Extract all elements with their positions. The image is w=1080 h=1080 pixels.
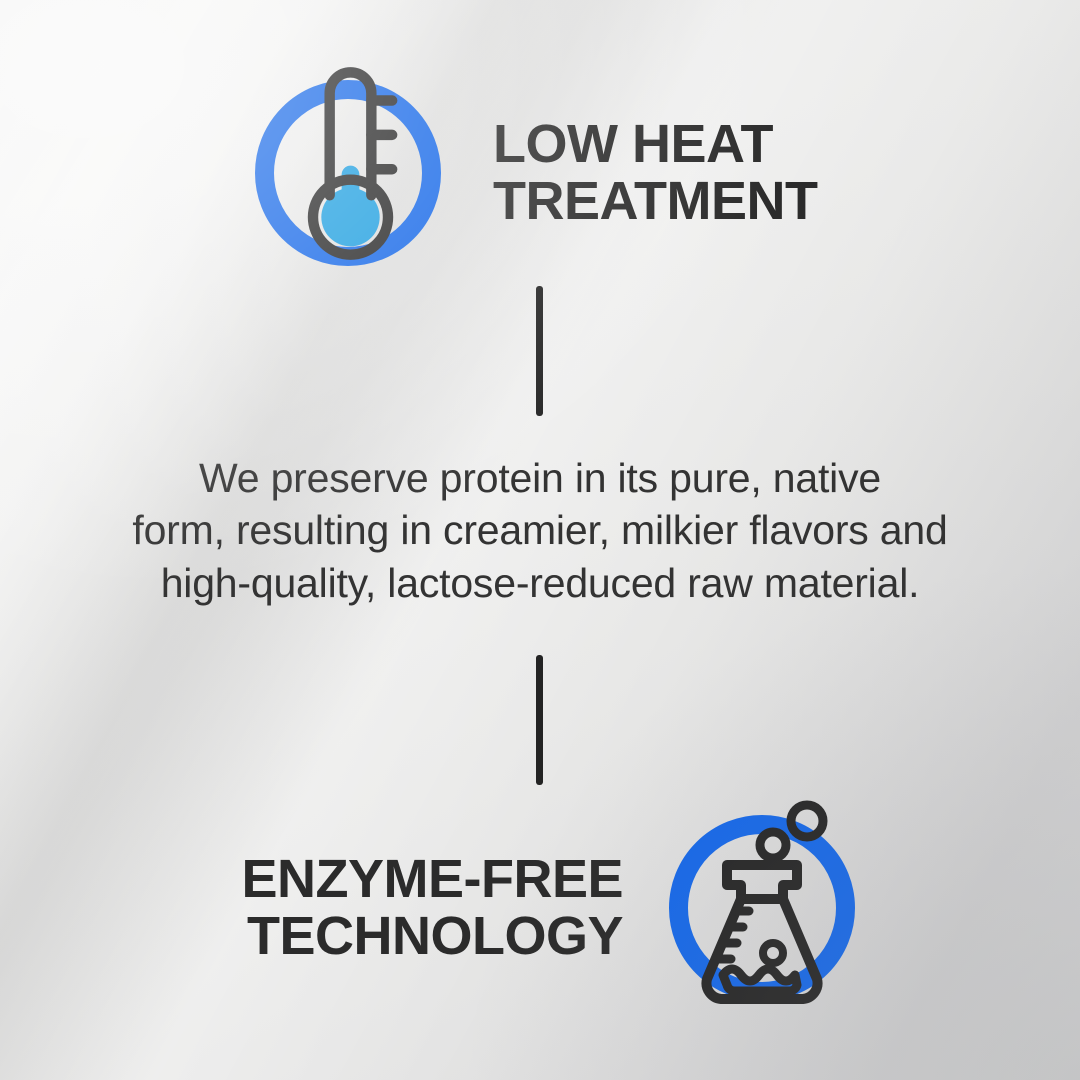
connector-bottom bbox=[536, 655, 543, 785]
description-paragraph: We preserve protein in its pure, native … bbox=[0, 452, 1080, 609]
connector-top bbox=[536, 286, 543, 416]
flask-icon bbox=[687, 803, 837, 1013]
thermometer-icon bbox=[288, 64, 413, 262]
infographic-canvas: LOW HEAT TREATMENT We preserve protein i… bbox=[0, 0, 1080, 1080]
bottom-feature-row: ENZYME-FREE TECHNOLOGY bbox=[185, 815, 855, 1001]
bottom-heading: ENZYME-FREE TECHNOLOGY bbox=[241, 851, 623, 965]
top-heading: LOW HEAT TREATMENT bbox=[493, 116, 817, 230]
flask-badge bbox=[669, 815, 855, 1001]
thermometer-badge bbox=[255, 80, 441, 266]
top-feature-row: LOW HEAT TREATMENT bbox=[255, 80, 895, 266]
